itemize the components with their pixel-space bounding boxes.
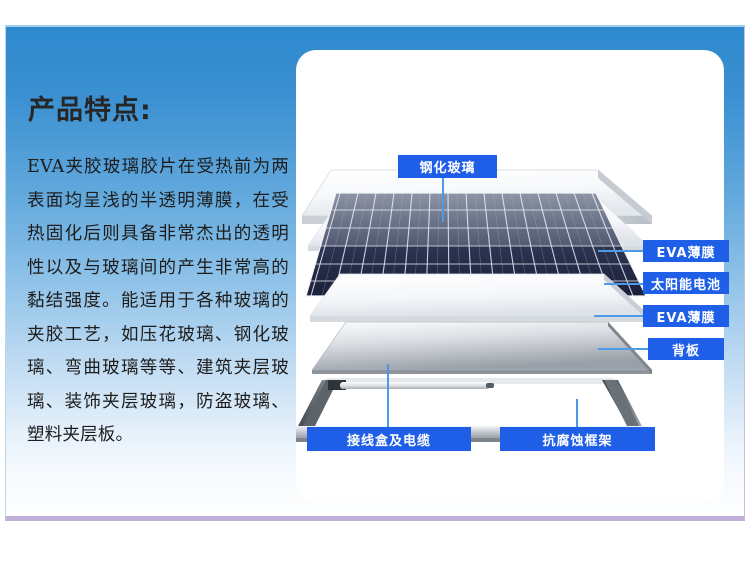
left-text-column: 产品特点: EVA夹胶玻璃胶片在受热前为两表面均呈浅的半透明薄膜，在受热固化后则… <box>6 27 298 518</box>
product-feature-banner: 产品特点: EVA夹胶玻璃胶片在受热前为两表面均呈浅的半透明薄膜，在受热固化后则… <box>0 0 750 564</box>
connector-line-solar-cell <box>604 283 644 285</box>
connector-line-tempered-glass <box>442 178 444 222</box>
label-tempered-glass: 钢化玻璃 <box>398 155 497 178</box>
label-junction-box: 接线盒及电缆 <box>307 427 471 451</box>
connector-line-frame <box>576 399 578 427</box>
blue-gradient-panel: 产品特点: EVA夹胶玻璃胶片在受热前为两表面均呈浅的半透明薄膜，在受热固化后则… <box>5 25 745 521</box>
connector-line-back-sheet <box>598 348 648 350</box>
connector-line-eva-bottom <box>594 315 644 317</box>
product-description-text: EVA夹胶玻璃胶片在受热前为两表面均呈浅的半透明薄膜，在受热固化后则具备非常杰出… <box>27 151 289 453</box>
label-eva-film-top: EVA薄膜 <box>643 240 729 262</box>
label-eva-film-bottom: EVA薄膜 <box>643 305 729 327</box>
connector-line-eva-top <box>598 250 644 252</box>
connector-line-junction-box <box>387 364 389 427</box>
label-back-sheet: 背板 <box>648 338 724 360</box>
label-solar-cell: 太阳能电池 <box>643 272 729 294</box>
page-title: 产品特点: <box>28 97 152 124</box>
label-anti-corrosion-frame: 抗腐蚀框架 <box>500 427 655 451</box>
